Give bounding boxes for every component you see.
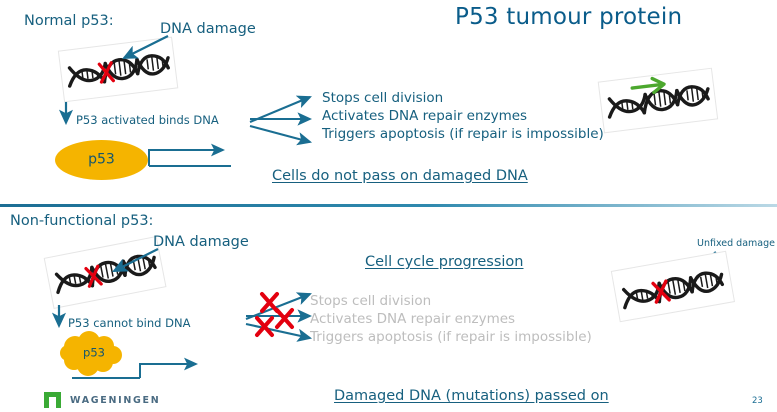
outcome-list-nonfunctional: Stops cell division Activates DNA repair…: [310, 292, 592, 346]
slide-canvas: P53 tumour protein Normal p53:: [0, 0, 777, 412]
step-label-nonfunctional: P53 cannot bind DNA: [68, 316, 190, 330]
outcome-item: Triggers apoptosis (if repair is impossi…: [310, 328, 592, 346]
cell-cycle-progression-heading: Cell cycle progression: [365, 254, 523, 270]
page-title: P53 tumour protein: [455, 4, 682, 30]
unfixed-damage-label: Unfixed damage: [697, 238, 775, 249]
page-number: 23: [752, 396, 763, 406]
dna-damage-label-normal: DNA damage: [160, 21, 256, 37]
outcome-item: Triggers apoptosis (if repair is impossi…: [322, 125, 604, 143]
step-arrow-normal: [60, 100, 74, 128]
dna-helix-unfixed-icon: [612, 258, 734, 316]
wageningen-mark-icon: [44, 392, 61, 408]
panel-divider: [0, 204, 777, 207]
outcome-item: Activates DNA repair enzymes: [310, 310, 592, 328]
dna-damage-pointer-nonfunctional: [108, 246, 164, 276]
step-label-normal: P53 activated binds DNA: [76, 113, 219, 127]
section-label-normal: Normal p53:: [24, 13, 114, 29]
transcription-arrow-normal: [145, 144, 235, 172]
conclusion-normal: Cells do not pass on damaged DNA: [272, 168, 528, 184]
wageningen-logo: WAGENINGEN: [44, 392, 160, 408]
conclusion-nonfunctional: Damaged DNA (mutations) passed on: [334, 388, 609, 404]
dna-damage-pointer-normal: [118, 33, 174, 63]
dna-helix-repaired-icon: [598, 72, 718, 130]
blocked-x-icon: [257, 294, 292, 335]
section-label-nonfunctional: Non-functional p53:: [10, 213, 153, 229]
outcome-item: Stops cell division: [322, 89, 604, 107]
outcome-arrows-normal: [248, 90, 320, 152]
outcome-list-normal: Stops cell division Activates DNA repair…: [322, 89, 604, 143]
p53-protein-oval: p53: [55, 140, 148, 180]
transcription-arrow-nonfunctional: [70, 358, 210, 384]
outcome-item: Stops cell division: [310, 292, 592, 310]
p53-protein-label: p53: [55, 152, 148, 168]
outcome-item: Activates DNA repair enzymes: [322, 107, 604, 125]
wageningen-logo-text: WAGENINGEN: [70, 395, 160, 406]
step-arrow-nonfunctional: [53, 303, 67, 331]
dna-damage-label-nonfunctional: DNA damage: [153, 234, 249, 250]
